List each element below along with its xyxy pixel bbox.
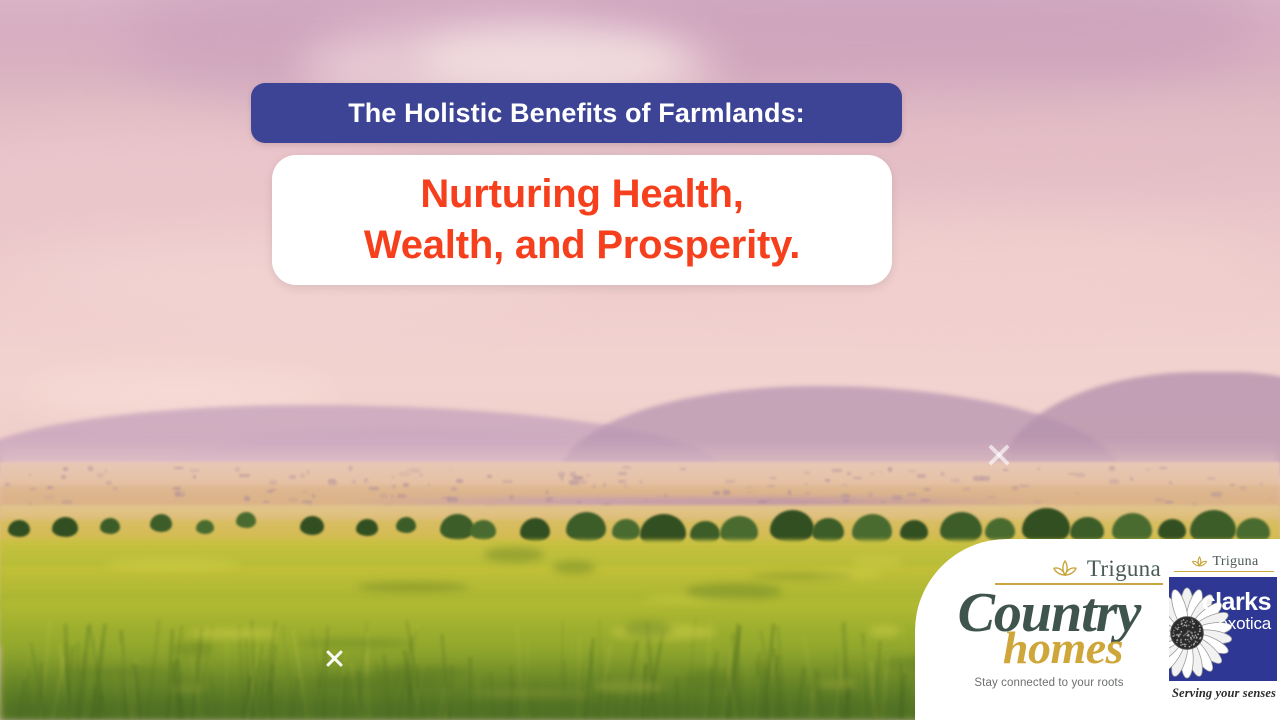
- crop-highlight: [751, 573, 853, 579]
- distant-speck: [770, 477, 776, 479]
- distant-speck: [380, 494, 388, 498]
- distant-speck: [487, 475, 492, 478]
- tree: [8, 520, 30, 537]
- distant-speck: [788, 490, 790, 495]
- lotus-icon: [1050, 558, 1080, 580]
- distant-speck: [723, 490, 729, 495]
- distant-speck: [399, 472, 410, 476]
- distant-speck: [546, 497, 553, 502]
- distant-speck: [391, 494, 393, 499]
- subtitle-text: Nurturing Health, Wealth, and Prosperity…: [364, 169, 800, 271]
- cloud-shape: [420, 30, 680, 90]
- distant-speck: [303, 491, 307, 493]
- distant-speck: [447, 497, 458, 502]
- country-homes-tagline: Stay connected to your roots: [933, 677, 1165, 689]
- distant-speck: [173, 487, 181, 489]
- distant-speck: [352, 480, 356, 484]
- crop-highlight: [189, 628, 277, 638]
- distant-speck: [288, 498, 298, 502]
- distant-speck: [843, 499, 849, 503]
- distant-speck: [921, 499, 931, 502]
- title-banner-text: The Holistic Benefits of Farmlands:: [348, 98, 805, 129]
- distant-speck: [419, 473, 422, 477]
- tree: [396, 517, 416, 533]
- clarks-text: clarks: [1202, 591, 1271, 615]
- distant-speck: [364, 478, 368, 483]
- distant-speck: [941, 472, 943, 476]
- crop-highlight: [868, 625, 901, 637]
- distant-speck: [289, 475, 295, 479]
- distant-speck: [618, 472, 627, 475]
- distant-speck: [951, 479, 961, 481]
- distant-speck: [63, 467, 67, 471]
- distant-speck: [312, 494, 315, 498]
- distant-speck: [592, 485, 597, 488]
- tree: [196, 520, 214, 534]
- tree: [150, 514, 172, 532]
- distant-speck: [403, 483, 409, 487]
- distant-speck: [239, 474, 250, 477]
- distant-speck: [1165, 501, 1173, 504]
- distant-speck: [804, 471, 810, 475]
- distant-speck: [725, 480, 735, 483]
- distant-speck: [1019, 485, 1028, 487]
- distant-speck: [758, 500, 768, 504]
- distant-speck: [680, 468, 686, 470]
- triguna-brand-text: Triguna: [1087, 557, 1161, 580]
- distant-speck: [263, 501, 270, 503]
- distant-speck: [1012, 486, 1018, 490]
- distant-speck: [664, 494, 667, 496]
- exotica-text: exotica: [1202, 615, 1271, 634]
- distant-speck: [988, 496, 996, 498]
- distant-speck: [456, 479, 463, 482]
- distant-speck: [369, 487, 380, 490]
- lotus-icon: [1190, 555, 1209, 569]
- distant-speck: [767, 485, 775, 487]
- distant-speck: [569, 480, 579, 485]
- distant-speck: [244, 496, 250, 501]
- tree: [236, 512, 256, 528]
- distant-speck: [570, 472, 576, 476]
- distant-speck: [174, 467, 183, 469]
- distant-speck: [618, 480, 626, 483]
- distant-speck: [175, 491, 180, 496]
- distant-speck: [870, 472, 875, 475]
- distant-speck: [1003, 469, 1008, 471]
- distant-speck: [847, 472, 851, 475]
- logo-triguna-country-homes: Triguna Country homes Stay connected to …: [933, 557, 1165, 707]
- clarks-exotica-badge: clarks exotica: [1169, 577, 1277, 681]
- distant-speck: [1159, 467, 1167, 469]
- triguna-brand-text: Triguna: [1213, 555, 1259, 569]
- slide-canvas: The Holistic Benefits of Farmlands: Nurt…: [0, 0, 1280, 720]
- title-banner: The Holistic Benefits of Farmlands:: [251, 83, 902, 143]
- distant-speck: [30, 488, 36, 491]
- distant-speck: [924, 488, 929, 491]
- distant-speck: [853, 477, 861, 480]
- distant-speck: [841, 494, 850, 498]
- distant-speck: [1130, 477, 1133, 481]
- tree: [300, 516, 324, 535]
- distant-speck: [1155, 498, 1165, 502]
- distant-speck: [577, 501, 582, 503]
- distant-speck: [981, 476, 990, 481]
- distant-speck: [1076, 473, 1085, 477]
- tree: [520, 518, 550, 542]
- tree: [612, 519, 640, 541]
- distant-speck: [451, 487, 457, 491]
- distant-speck: [888, 467, 892, 471]
- distant-speck: [47, 486, 53, 488]
- distant-speck: [913, 493, 916, 496]
- crop-highlight: [686, 583, 782, 599]
- distant-speck: [502, 480, 513, 482]
- triguna-lockup: Triguna: [933, 557, 1165, 580]
- distant-speck: [881, 501, 885, 504]
- distant-speck: [868, 492, 873, 497]
- distant-speck: [1033, 500, 1042, 503]
- distant-speck: [585, 474, 591, 476]
- distant-speck: [892, 495, 903, 500]
- crop-highlight: [103, 558, 242, 571]
- crop-highlight: [357, 582, 469, 592]
- tree: [52, 517, 78, 537]
- logo-card: Triguna Country homes Stay connected to …: [915, 539, 1280, 720]
- distant-speck: [269, 480, 278, 485]
- distant-speck: [639, 480, 643, 484]
- distant-speck: [5, 483, 10, 486]
- tree: [356, 519, 378, 536]
- distant-speck: [841, 484, 848, 487]
- distant-speck: [832, 469, 842, 473]
- distant-speck: [805, 492, 810, 495]
- distant-speck: [1169, 481, 1172, 485]
- distant-speck: [1109, 479, 1118, 483]
- subtitle-card: Nurturing Health, Wealth, and Prosperity…: [272, 155, 892, 285]
- distant-speck: [805, 483, 808, 485]
- distant-speck: [97, 473, 104, 478]
- distant-speck: [1207, 477, 1214, 481]
- logo-triguna-clarks-exotica: Triguna clarks exotica Serving you: [1169, 555, 1279, 713]
- distant-speck: [61, 475, 65, 479]
- distant-speck: [1230, 484, 1235, 486]
- distant-speck: [300, 473, 305, 478]
- distant-speck: [825, 479, 829, 481]
- distant-speck: [917, 474, 926, 478]
- distant-speck: [270, 489, 276, 491]
- distant-speck: [510, 497, 513, 500]
- distant-speck: [410, 468, 419, 473]
- distant-speck: [644, 499, 647, 502]
- distant-speck: [746, 486, 753, 488]
- distant-speck: [713, 491, 720, 494]
- distant-speck: [579, 480, 587, 484]
- gold-divider: [1174, 571, 1274, 572]
- tree: [770, 510, 814, 543]
- tree: [1158, 519, 1186, 541]
- distant-speck: [397, 494, 406, 498]
- triguna-lockup-small: Triguna: [1169, 555, 1279, 569]
- tree: [440, 514, 474, 540]
- tree: [100, 518, 120, 534]
- distant-speck: [622, 466, 632, 469]
- distant-speck: [44, 496, 54, 499]
- distant-speck: [105, 469, 107, 474]
- distant-speck: [1109, 466, 1114, 470]
- distant-speck: [1240, 486, 1246, 490]
- distant-speck: [1211, 492, 1221, 496]
- tree: [470, 520, 496, 540]
- clarks-exotica-tagline: Serving your senses: [1169, 686, 1279, 701]
- distant-speck: [113, 487, 117, 490]
- distant-speck: [190, 469, 198, 472]
- distant-speck: [768, 499, 772, 501]
- crop-highlight: [553, 561, 594, 574]
- distant-speck: [963, 487, 970, 492]
- tree: [566, 512, 606, 542]
- distant-speck: [193, 475, 197, 479]
